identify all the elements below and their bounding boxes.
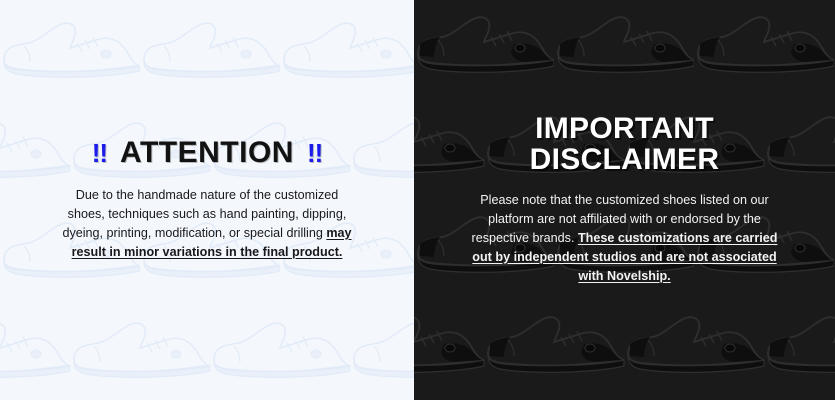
disclaimer-heading-line2: DISCLAIMER — [414, 145, 835, 176]
attention-content: !! ATTENTION !! Due to the handmade natu… — [0, 138, 414, 262]
disclaimer-content: IMPORTANT DISCLAIMER Please note that th… — [414, 114, 835, 285]
exclamation-icon-left: !! — [92, 140, 107, 166]
attention-panel: !! ATTENTION !! Due to the handmade natu… — [0, 0, 414, 400]
attention-heading: !! ATTENTION !! — [0, 138, 414, 169]
attention-heading-text: ATTENTION — [120, 138, 294, 169]
attention-body-normal: Due to the handmade nature of the custom… — [62, 188, 346, 240]
attention-body-text: Due to the handmade nature of the custom… — [59, 186, 355, 262]
disclaimer-banner: !! ATTENTION !! Due to the handmade natu… — [0, 0, 835, 400]
disclaimer-panel: IMPORTANT DISCLAIMER Please note that th… — [414, 0, 835, 400]
exclamation-icon-right: !! — [307, 140, 322, 166]
disclaimer-body-text: Please note that the customized shoes li… — [469, 191, 781, 286]
disclaimer-heading: IMPORTANT DISCLAIMER — [414, 114, 835, 175]
disclaimer-heading-line1: IMPORTANT — [535, 112, 714, 145]
